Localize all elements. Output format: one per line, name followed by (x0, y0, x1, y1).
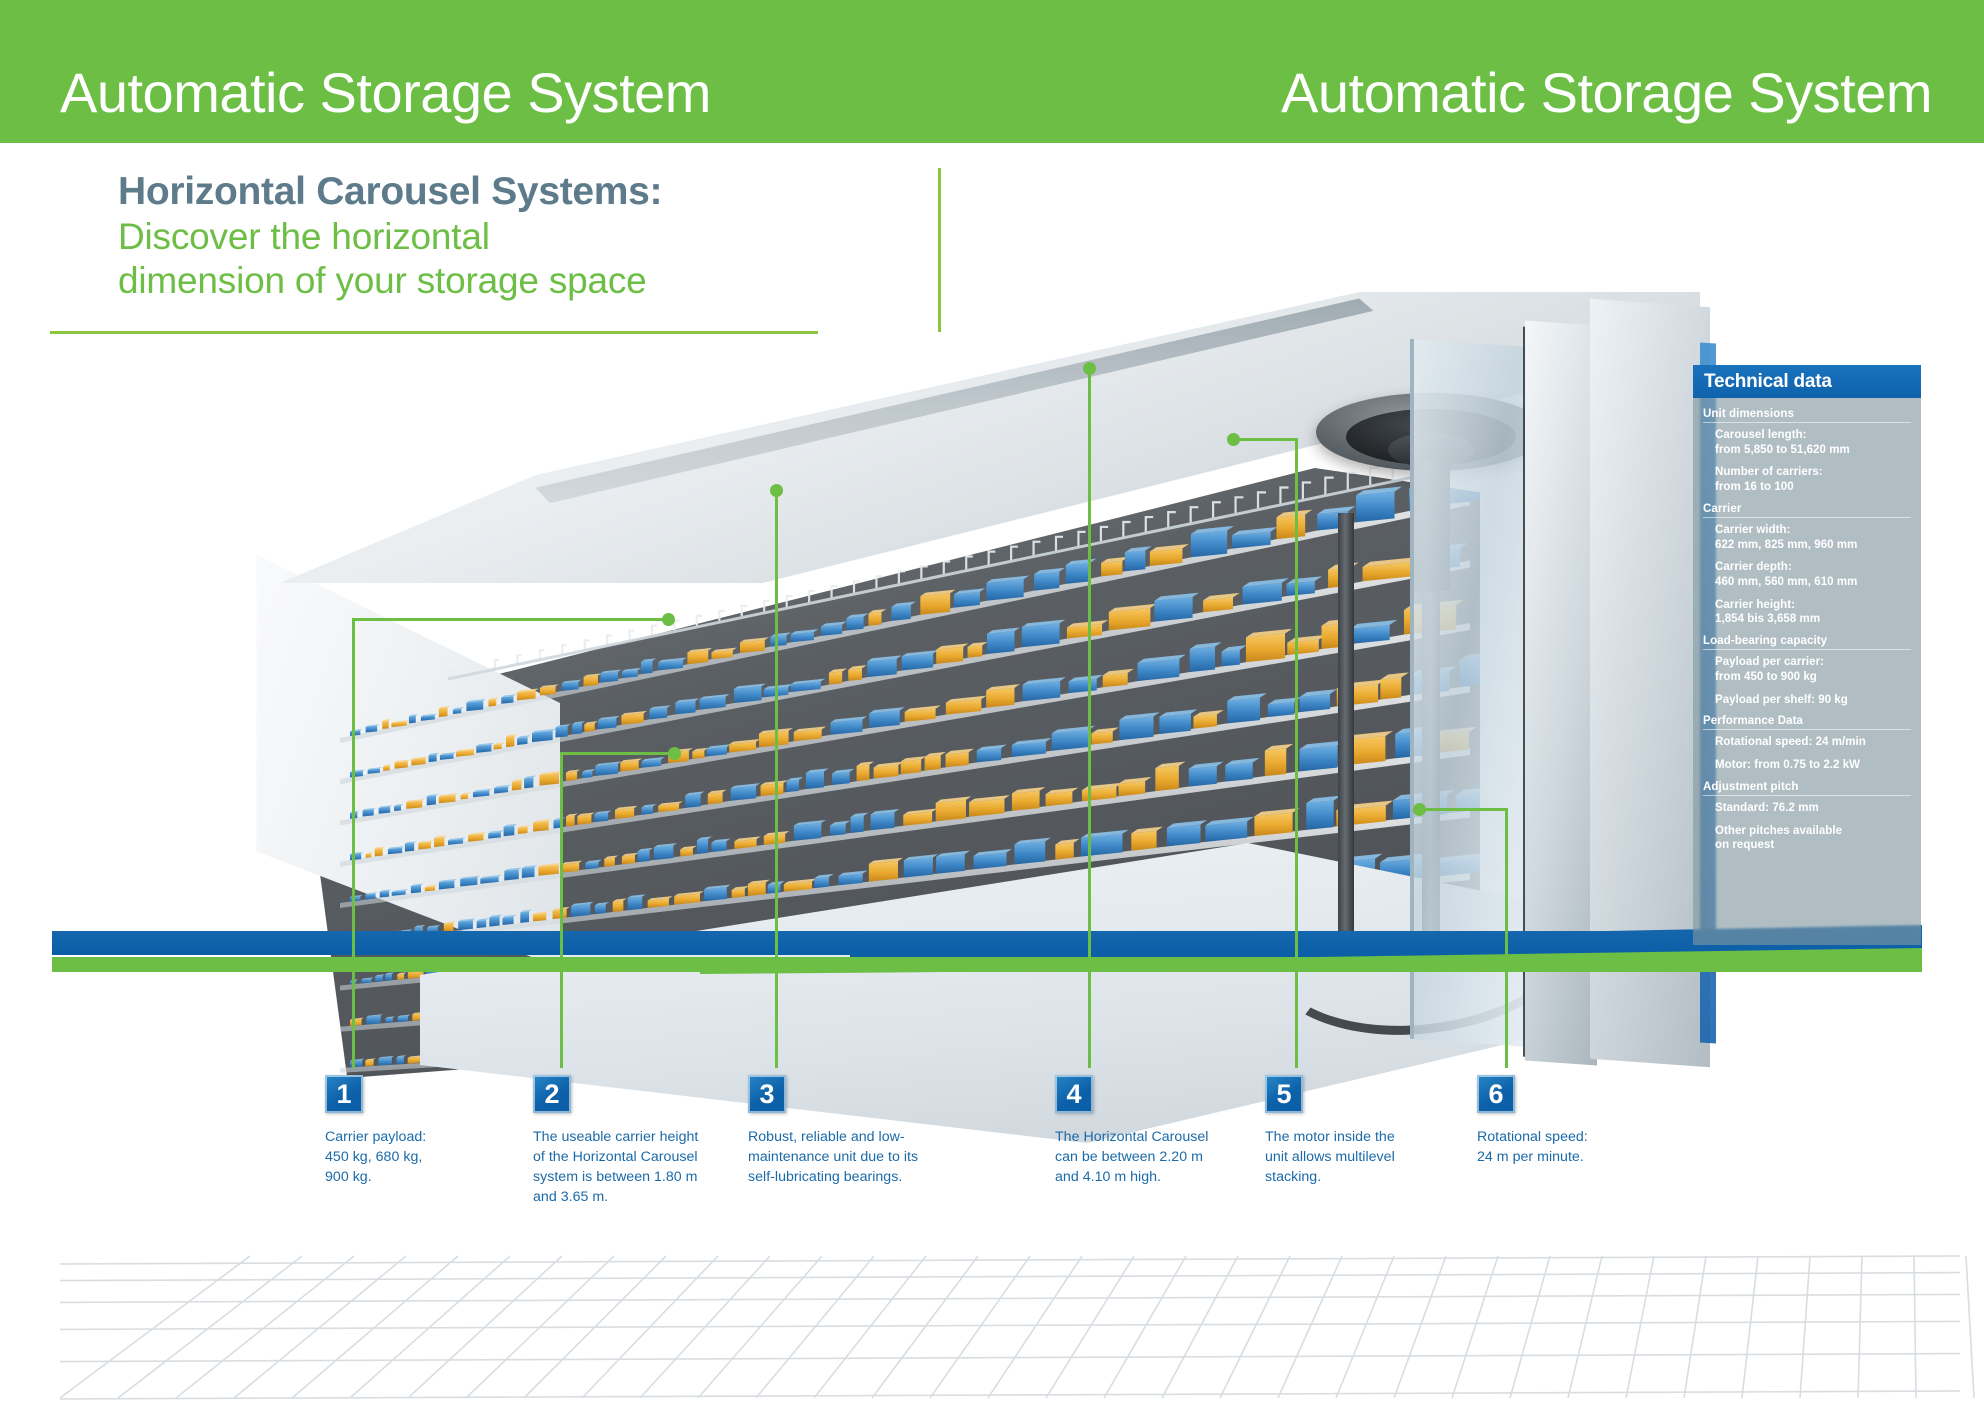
callout-text: The motor inside the unit allows multile… (1265, 1127, 1441, 1187)
callout-number-box[interactable]: 5 (1265, 1075, 1303, 1113)
tech-group-item: Number of carriers: from 16 to 100 (1715, 465, 1911, 494)
tech-group-item: Carousel length: from 5,850 to 51,620 mm (1715, 428, 1911, 457)
callout-4[interactable]: 4The Horizontal Carousel can be between … (1055, 1075, 1231, 1187)
callout-number: 5 (1265, 1075, 1303, 1113)
perspective-floor-grid (0, 1238, 1984, 1403)
tech-group-item: Carrier depth: 460 mm, 560 mm, 610 mm (1715, 560, 1911, 589)
leader-line-2-horizontal (560, 752, 674, 755)
callout-number: 6 (1477, 1075, 1515, 1113)
tech-group: CarrierCarrier width: 622 mm, 825 mm, 96… (1703, 503, 1911, 627)
callout-number-box[interactable]: 6 (1477, 1075, 1515, 1113)
leader-line-2-vertical (560, 752, 563, 1068)
callout-number: 4 (1055, 1075, 1093, 1113)
carousel-secondary-shaft (1338, 513, 1354, 953)
header-bar: Automatic Storage System Automatic Stora… (0, 0, 1984, 143)
tech-group-title: Performance Data (1703, 715, 1911, 729)
leader-dot-3 (770, 484, 783, 497)
tech-group-title: Carrier (1703, 503, 1911, 517)
tech-group-title: Adjustment pitch (1703, 781, 1911, 795)
callout-6[interactable]: 6Rotational speed: 24 m per minute. (1477, 1075, 1653, 1167)
tech-group-rule (1703, 649, 1911, 650)
callout-number-box[interactable]: 4 (1055, 1075, 1093, 1113)
leader-line-4-vertical (1088, 368, 1091, 1068)
tech-group: Unit dimensionsCarousel length: from 5,8… (1703, 408, 1911, 495)
callout-text: Carrier payload: 450 kg, 680 kg, 900 kg. (325, 1127, 501, 1187)
leader-line-5-horizontal (1232, 438, 1296, 441)
tech-group-item: Rotational speed: 24 m/min (1715, 735, 1911, 750)
tech-group-item: Other pitches available on request (1715, 824, 1911, 853)
callout-number: 3 (748, 1075, 786, 1113)
tech-group-item: Payload per shelf: 90 kg (1715, 693, 1911, 708)
callout-text: The Horizontal Carousel can be between 2… (1055, 1127, 1231, 1187)
header-title-left: Automatic Storage System (60, 60, 711, 125)
tech-group-rule (1703, 729, 1911, 730)
callout-text: Rotational speed: 24 m per minute. (1477, 1127, 1653, 1167)
leader-line-3-vertical (775, 490, 778, 1068)
tech-group-title: Load-bearing capacity (1703, 635, 1911, 649)
tech-group-rule (1703, 795, 1911, 796)
leader-dot-1 (662, 613, 675, 626)
callout-1[interactable]: 1Carrier payload: 450 kg, 680 kg, 900 kg… (325, 1075, 501, 1187)
leader-dot-6 (1413, 803, 1426, 816)
poster-page: Automatic Storage System Automatic Stora… (0, 0, 1984, 1403)
leader-line-1-horizontal (352, 618, 668, 621)
callout-text: The useable carrier height of the Horizo… (533, 1127, 709, 1208)
tech-group-title: Unit dimensions (1703, 408, 1911, 422)
leader-line-5-vertical (1295, 438, 1298, 1068)
callout-number: 2 (533, 1075, 571, 1113)
tech-group-item: Standard: 76.2 mm (1715, 801, 1911, 816)
callout-number-box[interactable]: 1 (325, 1075, 363, 1113)
callout-text: Robust, reliable and low- maintenance un… (748, 1127, 924, 1187)
tech-group-item: Payload per carrier: from 450 to 900 kg (1715, 655, 1911, 684)
leader-dot-2 (668, 747, 681, 760)
technical-data-body: Unit dimensionsCarousel length: from 5,8… (1693, 398, 1921, 945)
carousel-illustration (0, 143, 1984, 1403)
tech-group-item: Carrier height: 1,854 bis 3,658 mm (1715, 598, 1911, 627)
tech-group: Performance DataRotational speed: 24 m/m… (1703, 715, 1911, 772)
leader-line-6-horizontal (1418, 808, 1506, 811)
tech-group-rule (1703, 517, 1911, 518)
leader-dot-5 (1227, 433, 1240, 446)
callout-2[interactable]: 2The useable carrier height of the Horiz… (533, 1075, 709, 1208)
technical-data-panel: Technical data Unit dimensionsCarousel l… (1693, 365, 1921, 945)
callout-number-box[interactable]: 3 (748, 1075, 786, 1113)
tech-group-rule (1703, 422, 1911, 423)
leader-dot-4 (1083, 362, 1096, 375)
callout-number-box[interactable]: 2 (533, 1075, 571, 1113)
tech-group: Adjustment pitchStandard: 76.2 mmOther p… (1703, 781, 1911, 853)
leader-line-6-vertical (1505, 808, 1508, 1068)
tech-group-item: Motor: from 0.75 to 2.2 kW (1715, 758, 1911, 773)
technical-data-title: Technical data (1704, 371, 1832, 393)
callout-number: 1 (325, 1075, 363, 1113)
callout-5[interactable]: 5The motor inside the unit allows multil… (1265, 1075, 1441, 1187)
header-title-right: Automatic Storage System (1281, 60, 1932, 125)
tech-group-item: Carrier width: 622 mm, 825 mm, 960 mm (1715, 523, 1911, 552)
tech-group: Load-bearing capacityPayload per carrier… (1703, 635, 1911, 707)
technical-data-header: Technical data (1693, 365, 1921, 398)
callout-3[interactable]: 3Robust, reliable and low- maintenance u… (748, 1075, 924, 1187)
leader-line-1-vertical (352, 618, 355, 1068)
